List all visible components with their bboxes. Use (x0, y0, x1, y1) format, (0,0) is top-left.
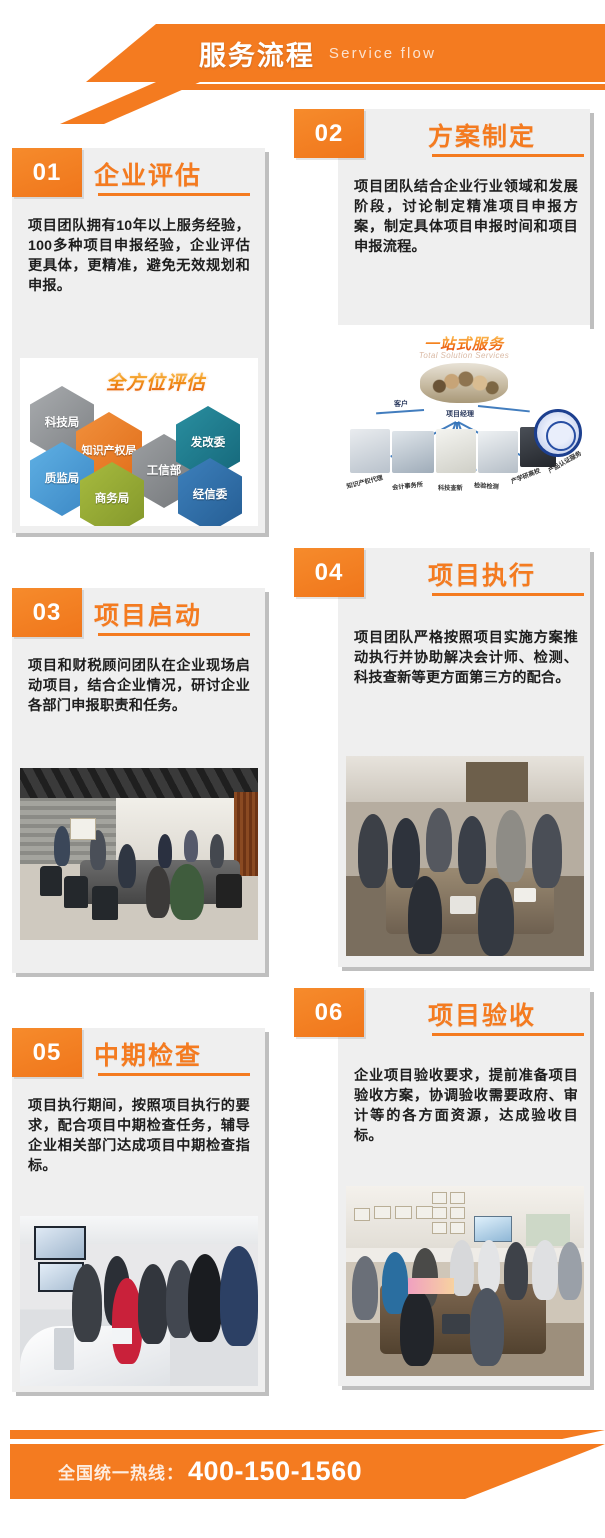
one-stop-bottom-label-1: 知识产权代理 (345, 473, 383, 491)
photo-acceptance-meeting-6 (346, 1186, 584, 1376)
card-title-rule (98, 633, 250, 636)
card-title-6: 项目验收 (428, 996, 536, 1032)
hotline-block: 全国统一热线： 400-150-1560 (58, 1444, 362, 1499)
hotline-number[interactable]: 400-150-1560 (188, 1456, 362, 1487)
card-body-4: 项目团队严格按照项目实施方案推动执行并协助解决会计师、检测、科技查新等更方面第三… (354, 628, 578, 688)
card-title-rule (98, 193, 250, 196)
card-title-4: 项目执行 (428, 556, 536, 592)
header-underline-stripe (0, 84, 605, 94)
page-title-en: Service flow (329, 45, 436, 62)
card-body-2: 项目团队结合企业行业领域和发展阶段，讨论制定精准项目申报方案，制定具体项目申报时… (354, 177, 578, 258)
card-title-rule (98, 1073, 250, 1076)
one-stop-service-diagram: 一站式服务 Total Solution Services 客户 项目经理 知识… (338, 325, 590, 533)
thumb-sci-search (436, 429, 476, 473)
footer-stripe (10, 1430, 605, 1439)
card-number-badge-5: 05 (12, 1028, 82, 1077)
card-body-5: 项目执行期间，按照项目执行的要求，配合项目中期检查任务，辅导企业相关部门达成项目… (28, 1096, 250, 1177)
card-number-badge-2: 02 (294, 109, 364, 158)
card-number-badge-3: 03 (12, 588, 82, 637)
card-title-rule (432, 154, 584, 157)
process-card-6: 06 项目验收 企业项目验收要求，提前准备项目验收方案，协调验收需要政府、审计等… (294, 988, 595, 1392)
card-title-5: 中期检查 (94, 1036, 202, 1072)
hexagon-diagram: 全方位评估 科技局 知识产权局 质监局 工信部 商务局 发改委 经信委 (20, 358, 258, 526)
card-number-badge-1: 01 (12, 148, 82, 197)
one-stop-label-customer: 客户 (394, 399, 408, 409)
arrow-to-customer (376, 409, 424, 414)
hotline-label: 全国统一热线： (58, 1459, 184, 1484)
photo-meeting-room-3 (20, 768, 258, 940)
thumb-ip-agency (350, 429, 390, 473)
card-body-6: 企业项目验收要求，提前准备项目验收方案，协调验收需要政府、审计等的各方面资源，达… (354, 1066, 578, 1147)
process-card-4: 04 项目执行 项目团队严格按照项目实施方案推动执行并协助解决会计师、检测、科技… (294, 548, 595, 972)
photo-showroom-visit-5 (20, 1216, 258, 1386)
card-body-1: 项目团队拥有10年以上服务经验，100多种项目申报经验，企业评估更具体，更精准，… (28, 216, 250, 297)
thumb-accounting (392, 431, 434, 473)
page-footer: 全国统一热线： 400-150-1560 (0, 1430, 605, 1538)
card-title-1: 企业评估 (94, 156, 202, 192)
hexagon-diagram-title: 全方位评估 (106, 368, 206, 395)
card-number-badge-4: 04 (294, 548, 364, 597)
card-body-3: 项目和财税顾问团队在企业现场启动项目，结合企业情况，研讨企业各部门申报职责和任务… (28, 656, 250, 716)
process-card-2: 02 方案制定 项目团队结合企业行业领域和发展阶段，讨论制定精准项目申报方案，制… (294, 109, 595, 538)
page-title: 服务流程 Service flow (0, 24, 605, 82)
photo-conference-table-4 (346, 756, 584, 956)
one-stop-bottom-label-4: 检验检测 (474, 480, 499, 491)
card-title-rule (432, 1033, 584, 1036)
page-title-cn: 服务流程 (199, 34, 315, 73)
thumb-inspection (478, 431, 518, 473)
one-stop-team-photo (420, 363, 508, 403)
card-number-badge-6: 06 (294, 988, 364, 1037)
process-card-1: 01 企业评估 项目团队拥有10年以上服务经验，100多种项目申报经验，企业评估… (12, 148, 274, 538)
one-stop-label-manager: 项目经理 (446, 409, 474, 419)
one-stop-bottom-label-3: 科技查新 (438, 483, 463, 492)
one-stop-subtitle: Total Solution Services (338, 351, 590, 360)
card-title-2: 方案制定 (428, 117, 536, 153)
card-title-3: 项目启动 (94, 596, 202, 632)
card-title-rule (432, 593, 584, 596)
arrow-to-right (478, 405, 530, 412)
process-card-3: 03 项目启动 项目和财税顾问团队在企业现场启动项目，结合企业情况，研讨企业各部… (12, 588, 274, 978)
process-card-5: 05 中期检查 项目执行期间，按照项目执行的要求，配合项目中期检查任务，辅导企业… (12, 1028, 274, 1398)
one-stop-bottom-label-2: 会计事务所 (392, 479, 424, 491)
page-header: 服务流程 Service flow (0, 0, 605, 108)
